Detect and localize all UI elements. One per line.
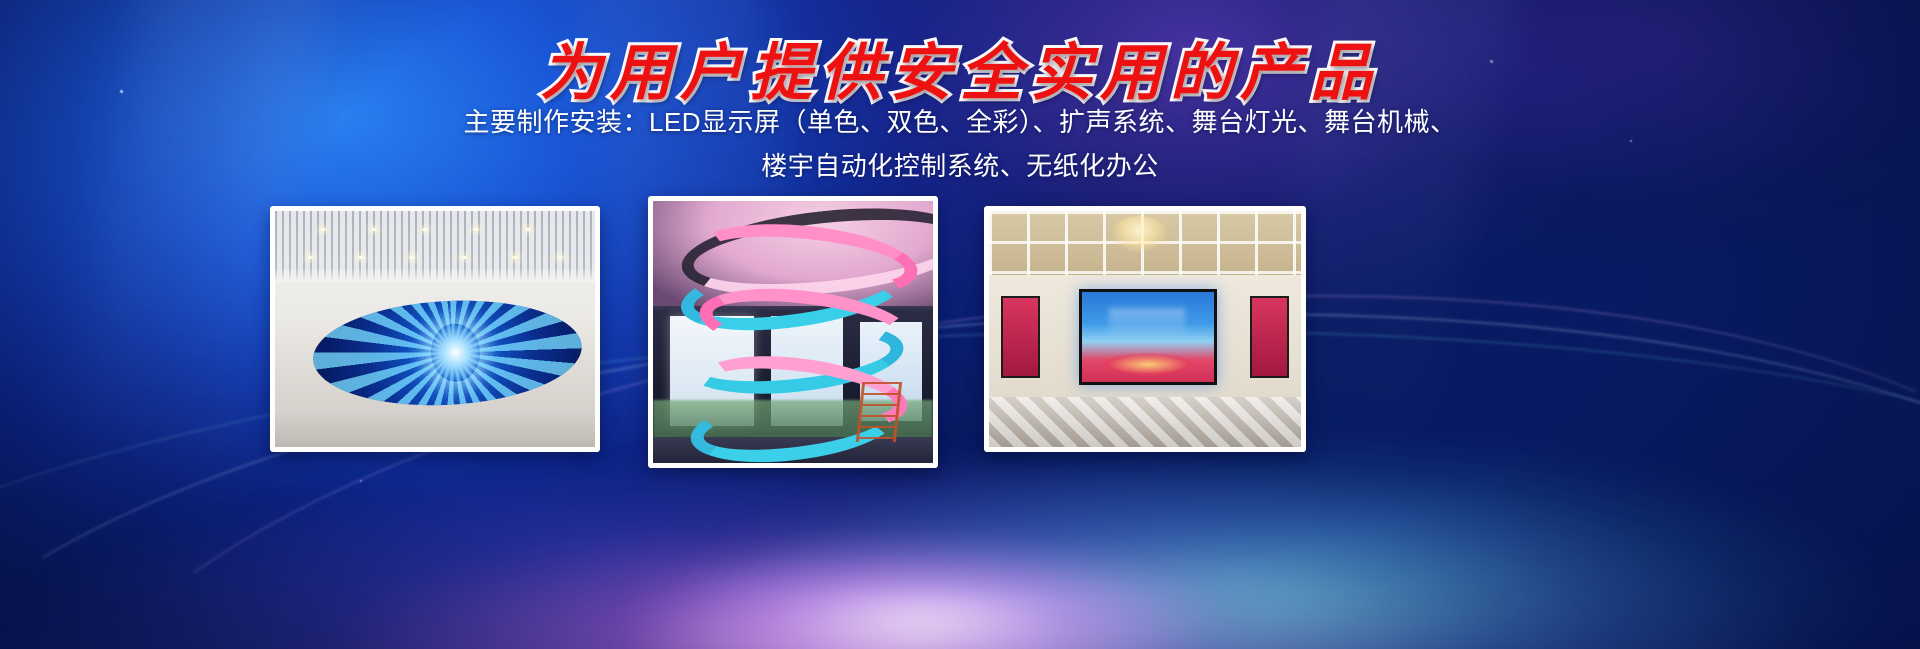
promo-banner: 为用户提供安全实用的产品 主要制作安装：LED显示屏（单色、双色、全彩）、扩声系… (0, 0, 1920, 649)
ceiling-light (512, 256, 518, 259)
subtitle-line-2: 楼宇自动化控制系统、无纸化办公 (0, 144, 1920, 188)
banner-content: 为用户提供安全实用的产品 主要制作安装：LED显示屏（单色、双色、全彩）、扩声系… (0, 0, 1920, 649)
ceiling-light (320, 228, 326, 231)
main-led-screen (1079, 289, 1216, 385)
photo-banquet-hall-led-stage (989, 211, 1301, 447)
hall-ceiling (275, 211, 595, 282)
ceiling-light (525, 228, 531, 231)
subtitle-line-1: 主要制作安装：LED显示屏（单色、双色、全彩）、扩声系统、舞台灯光、舞台机械、 (0, 100, 1920, 144)
photo-card-banquet-hall-led-stage[interactable] (984, 206, 1306, 452)
photo-card-eye-shaped-led-display[interactable] (270, 206, 600, 452)
chandelier (1111, 216, 1167, 252)
ceiling-light (371, 228, 377, 231)
side-led-panel-left (1001, 296, 1039, 378)
ceiling-light (358, 256, 364, 259)
photo-eye-shaped-led-display (275, 211, 595, 447)
ceiling-light (422, 228, 428, 231)
checkered-floor (989, 397, 1301, 447)
photo-card-spiral-led-screen[interactable] (648, 196, 938, 468)
ceiling-light (557, 256, 563, 259)
subtitle-block: 主要制作安装：LED显示屏（单色、双色、全彩）、扩声系统、舞台灯光、舞台机械、 … (0, 100, 1920, 188)
ceiling-light (473, 228, 479, 231)
ceiling-light (307, 256, 313, 259)
step-ladder (856, 382, 902, 442)
page-title: 为用户提供安全实用的产品 (0, 22, 1920, 112)
side-led-panel-right (1250, 296, 1288, 378)
ceiling-light (461, 256, 467, 259)
hall-floor (275, 409, 595, 447)
photo-spiral-led-screen (653, 201, 933, 463)
